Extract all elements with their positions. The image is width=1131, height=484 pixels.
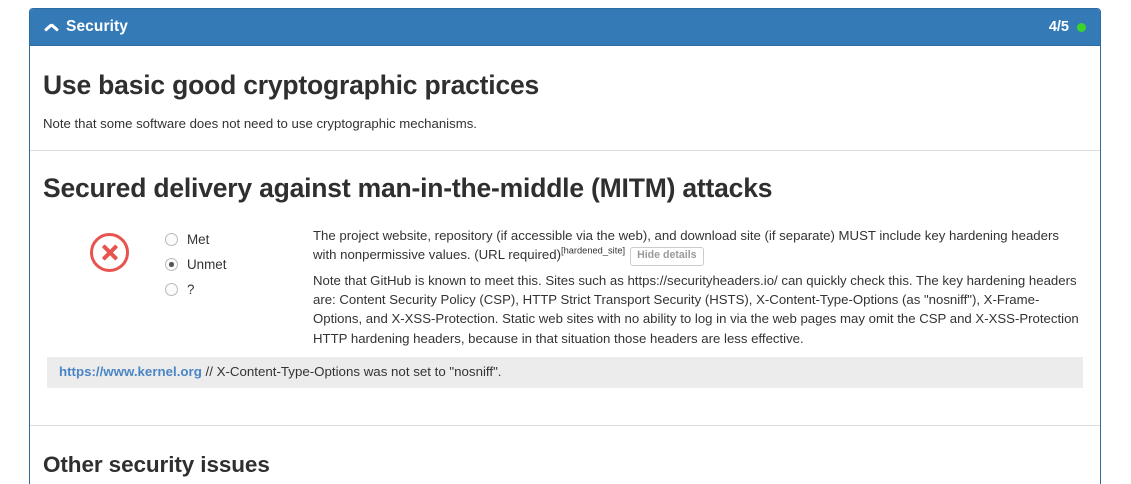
section-spacer — [43, 388, 1087, 425]
radio-met-label: Met — [187, 232, 209, 247]
radio-unknown-input[interactable] — [165, 283, 178, 296]
crypto-practices-note: Note that some software does not need to… — [43, 114, 1087, 133]
screenshot-root: Security 4/5 Use basic good cryptographi… — [0, 0, 1131, 484]
criterion-justification: https://www.kernel.org // X-Content-Type… — [47, 357, 1083, 389]
radio-met-input[interactable] — [165, 233, 178, 246]
criterion-status-cell — [53, 225, 165, 272]
crypto-practices-title: Use basic good cryptographic practices — [43, 70, 1087, 100]
crypto-practices-section: Use basic good cryptographic practices N… — [30, 46, 1100, 150]
panel-progress-group: 4/5 — [1049, 19, 1086, 35]
radio-option-unmet[interactable]: Unmet — [165, 252, 313, 277]
other-security-title: Other security issues — [43, 452, 1087, 478]
status-dot-icon — [1077, 23, 1086, 32]
circle-x-icon — [90, 233, 129, 272]
criterion-tag: [hardened_site] — [561, 246, 625, 256]
panel-title: Security — [66, 18, 128, 36]
justification-text: // X-Content-Type-Options was not set to… — [202, 364, 502, 379]
panel-title-group[interactable]: Security — [44, 18, 128, 36]
radio-option-met[interactable]: Met — [165, 227, 313, 252]
other-security-section: Other security issues — [30, 425, 1100, 484]
mitm-criterion-row: Met Unmet ? The project website, reposit… — [43, 225, 1087, 348]
security-panel: Security 4/5 Use basic good cryptographi… — [29, 8, 1101, 484]
radio-option-unknown[interactable]: ? — [165, 277, 313, 302]
criterion-details: Note that GitHub is known to meet this. … — [313, 271, 1085, 348]
criterion-description: The project website, repository (if acce… — [313, 226, 1085, 266]
security-panel-header[interactable]: Security 4/5 — [30, 9, 1100, 46]
mitm-criterion-title: Secured delivery against man-in-the-midd… — [43, 173, 1087, 203]
radio-unknown-label: ? — [187, 282, 194, 297]
radio-unmet-label: Unmet — [187, 257, 226, 272]
radio-unmet-input[interactable] — [165, 258, 178, 271]
criterion-description-cell: The project website, repository (if acce… — [313, 225, 1087, 348]
justification-url-link[interactable]: https://www.kernel.org — [59, 364, 202, 379]
security-panel-body: Use basic good cryptographic practices N… — [30, 46, 1100, 484]
mitm-criterion-section: Secured delivery against man-in-the-midd… — [30, 150, 1100, 426]
chevron-up-icon[interactable] — [44, 21, 59, 33]
criterion-radio-group[interactable]: Met Unmet ? — [165, 225, 313, 302]
hide-details-button[interactable]: Hide details — [630, 247, 703, 266]
progress-count: 4/5 — [1049, 19, 1069, 35]
